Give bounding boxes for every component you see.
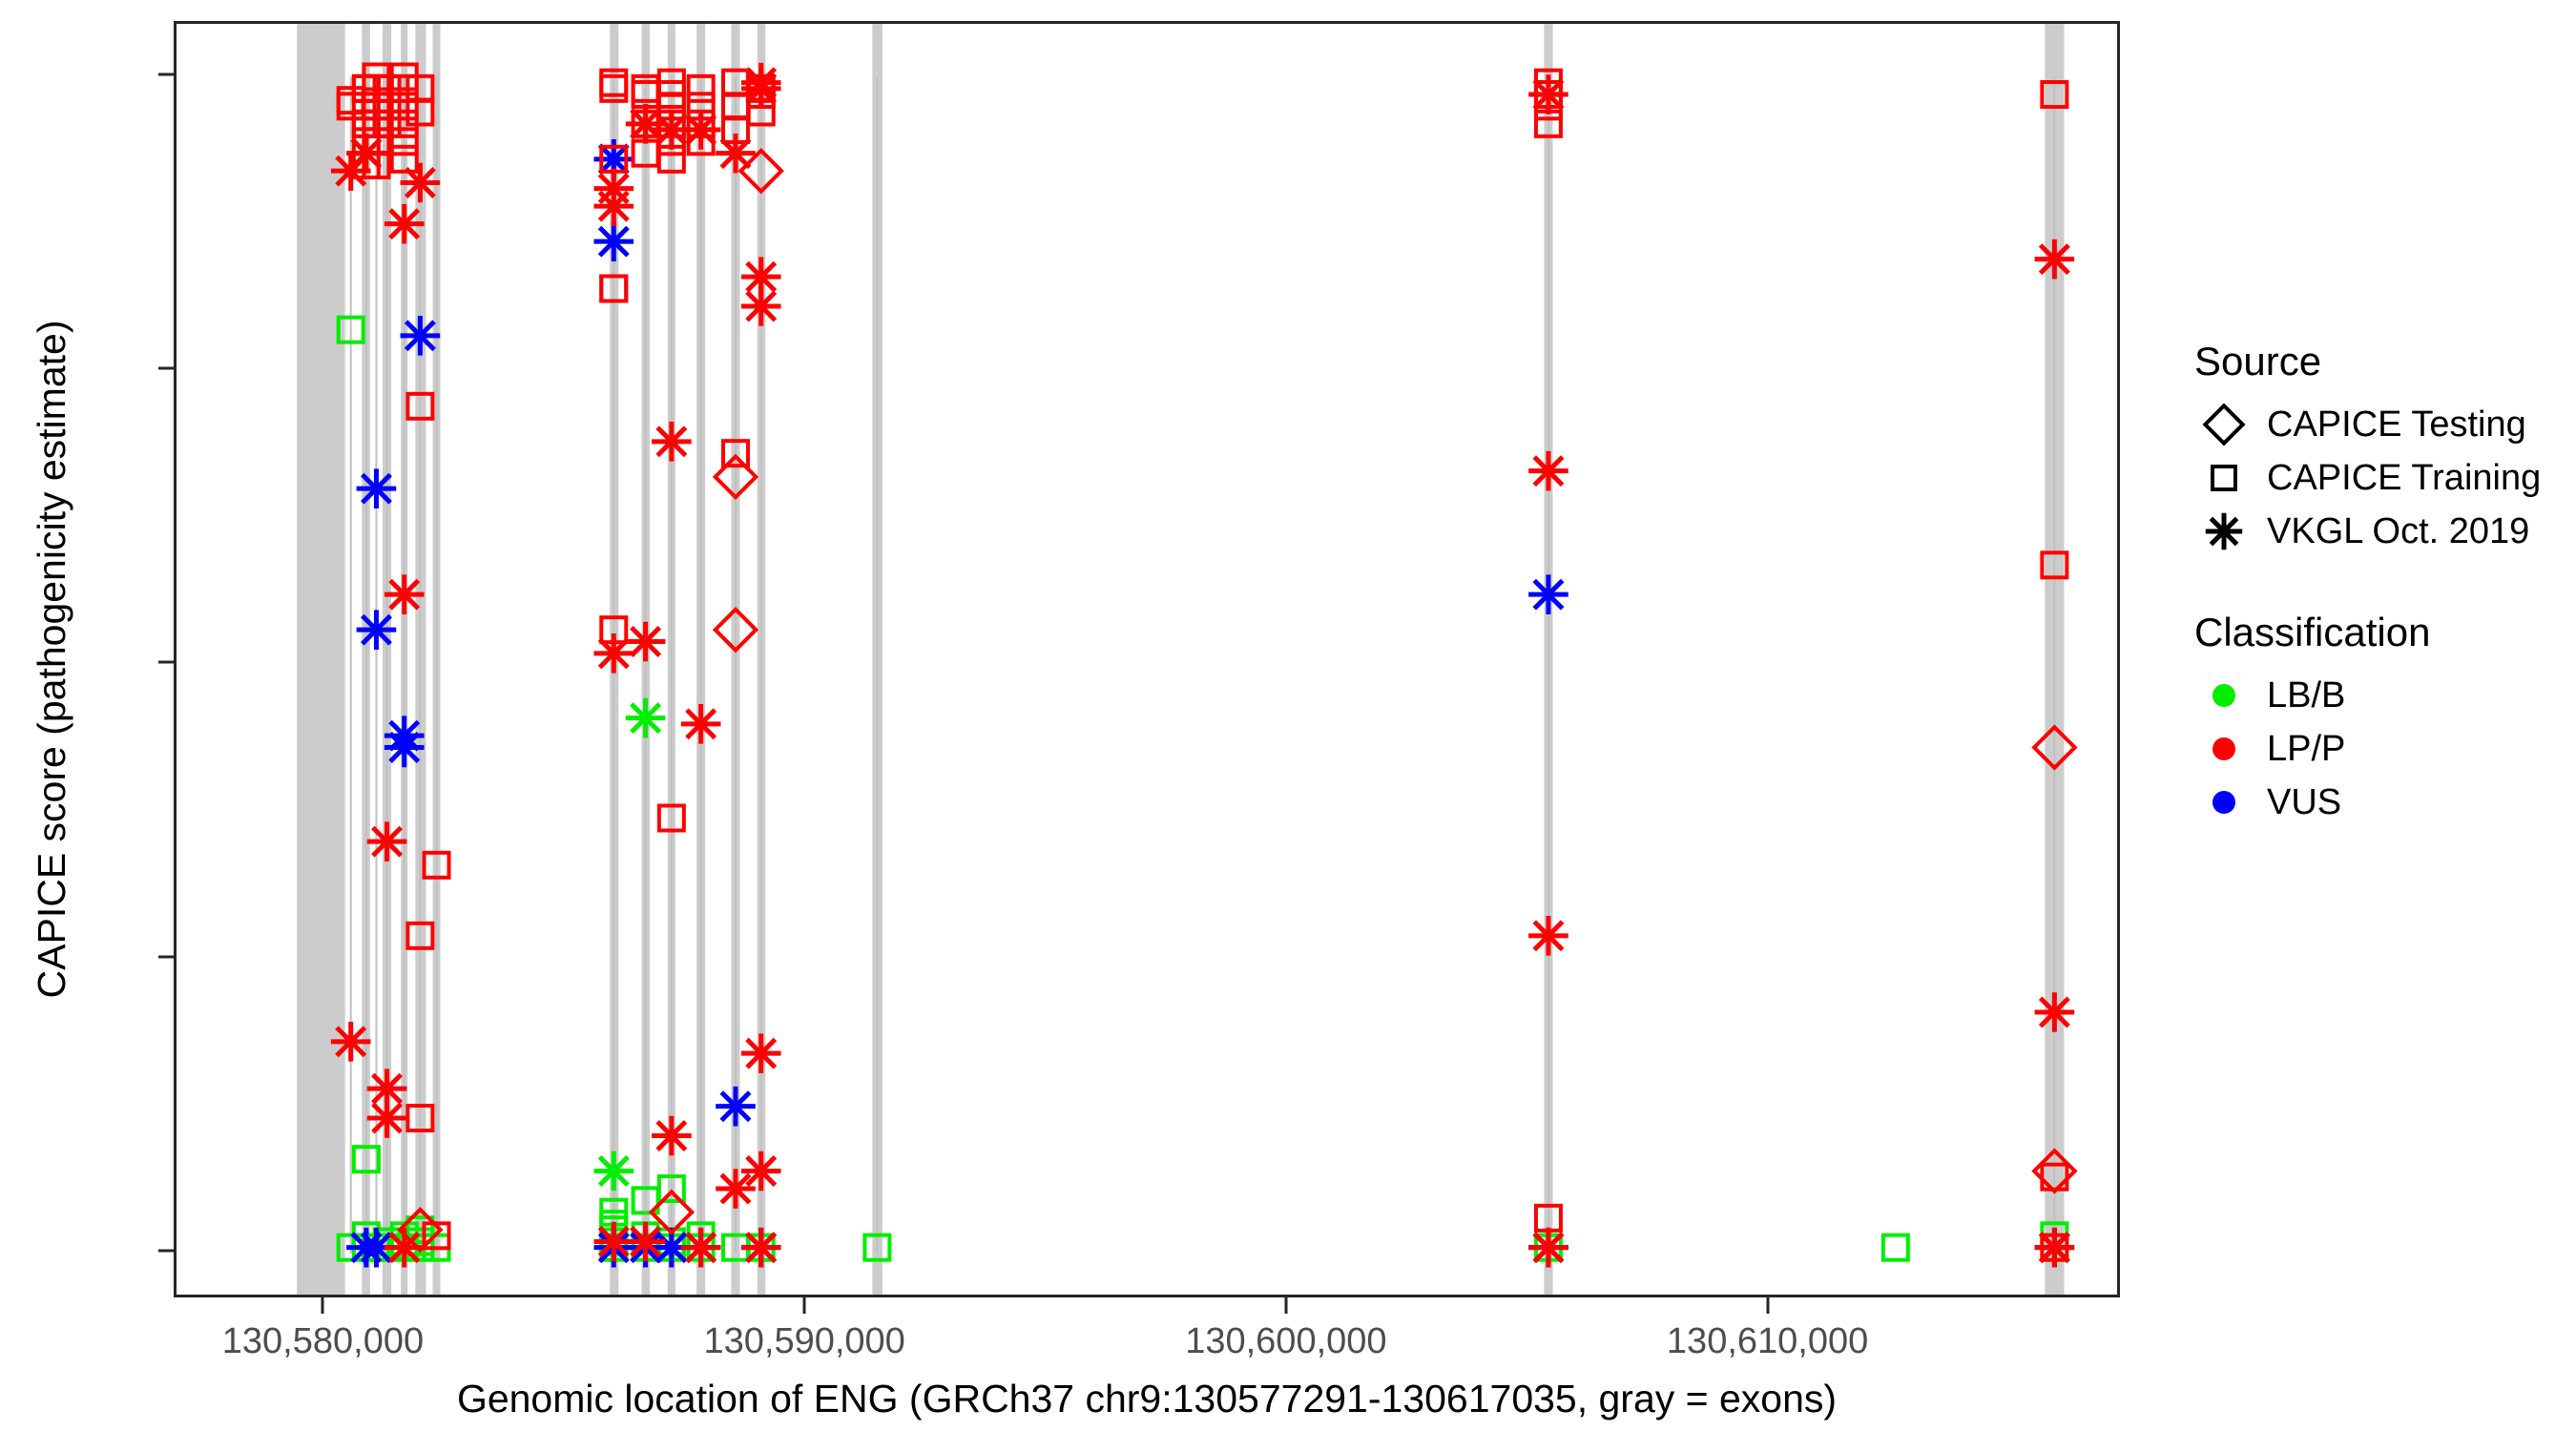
data-point — [681, 704, 721, 744]
circle-icon — [2200, 778, 2248, 826]
data-point — [2035, 1228, 2075, 1268]
diamond-glyph — [2205, 405, 2242, 443]
legend-item-classification-1[interactable]: LP/P — [2194, 722, 2566, 776]
legend-label-classification: VUS — [2254, 782, 2341, 823]
legend-items-classification: LB/BLP/PVUS — [2194, 669, 2566, 829]
legend-group-source: Source CAPICE TestingCAPICE TrainingVKGL… — [2194, 339, 2566, 558]
capice-scatter-figure: CAPICE score (pathogenicity estimate) 0.… — [0, 0, 2576, 1431]
x-tick-label: 130,610,000 — [1606, 1321, 1930, 1362]
data-point — [384, 204, 425, 244]
data-point — [367, 821, 407, 861]
legend-item-source-2[interactable]: VKGL Oct. 2019 — [2194, 505, 2566, 558]
legend-key-dot — [2194, 669, 2254, 722]
y-tick-mark — [158, 1249, 174, 1252]
data-point — [741, 1151, 781, 1192]
x-tick-label: 130,590,000 — [642, 1321, 966, 1362]
data-point — [331, 1022, 371, 1062]
data-point — [367, 1098, 407, 1138]
plot-panel — [174, 21, 2120, 1297]
legend-group-classification: Classification LB/BLP/PVUS — [2194, 610, 2566, 829]
y-tick-mark — [158, 955, 174, 958]
legend-title-source: Source — [2194, 339, 2566, 384]
series-asterisk — [593, 698, 2074, 1268]
series-square — [339, 318, 2067, 1260]
legend-label-classification: LP/P — [2254, 729, 2345, 770]
data-point — [741, 286, 781, 326]
data-point — [357, 610, 397, 650]
asterisk-glyph — [2206, 513, 2242, 550]
dropline-segments — [351, 77, 2055, 1254]
data-point — [1883, 1235, 1908, 1260]
data-point — [716, 134, 756, 174]
data-point — [741, 69, 781, 109]
data-point — [2035, 239, 2075, 280]
legend-key-diamond — [2194, 398, 2254, 451]
data-points — [331, 63, 2075, 1268]
legend-item-source-0[interactable]: CAPICE Testing — [2194, 398, 2566, 451]
data-point — [1528, 916, 1568, 956]
exon-band — [297, 24, 344, 1295]
data-point — [401, 316, 441, 356]
legend-item-source-1[interactable]: CAPICE Training — [2194, 451, 2566, 505]
circle-glyph — [2212, 684, 2235, 707]
data-point — [384, 574, 425, 614]
y-tick-mark — [158, 661, 174, 664]
data-point — [593, 186, 634, 226]
data-point — [741, 1228, 781, 1268]
circle-glyph — [2212, 737, 2235, 760]
series-asterisk — [346, 139, 2074, 1267]
series-asterisk — [331, 63, 2074, 1268]
legend-label-source: CAPICE Testing — [2254, 404, 2526, 446]
legend-key-dot — [2194, 776, 2254, 829]
asterisk-icon — [2200, 508, 2248, 555]
data-point — [626, 622, 666, 662]
data-point — [593, 1151, 634, 1192]
series-diamond — [400, 151, 2075, 1251]
data-point — [741, 1033, 781, 1073]
data-point — [1528, 574, 1568, 614]
x-tick-label: 130,600,000 — [1124, 1321, 1448, 1362]
legend-items-source: CAPICE TestingCAPICE TrainingVKGL Oct. 2… — [2194, 398, 2566, 558]
x-tick-mark — [803, 1297, 806, 1314]
data-point — [1528, 74, 1568, 114]
legend: Source CAPICE TestingCAPICE TrainingVKGL… — [2194, 339, 2566, 881]
data-point — [357, 468, 397, 508]
legend-key-square — [2194, 451, 2254, 505]
data-point — [593, 221, 634, 261]
data-point — [401, 163, 441, 203]
legend-key-asterisk — [2194, 505, 2254, 558]
legend-key-dot — [2194, 722, 2254, 776]
square-icon — [2200, 454, 2248, 502]
legend-item-classification-2[interactable]: VUS — [2194, 776, 2566, 829]
data-point — [652, 422, 692, 462]
diamond-icon — [2200, 401, 2248, 448]
exon-bands — [297, 24, 2064, 1295]
y-tick-mark — [158, 366, 174, 369]
x-tick-mark — [1766, 1297, 1769, 1314]
data-point — [652, 1116, 692, 1156]
data-point — [1528, 451, 1568, 491]
circle-icon — [2200, 725, 2248, 773]
legend-label-classification: LB/B — [2254, 675, 2345, 716]
x-tick-mark — [1284, 1297, 1287, 1314]
square-glyph — [2212, 467, 2235, 489]
data-point — [346, 134, 386, 174]
data-point — [626, 104, 666, 144]
plot-canvas — [177, 24, 2117, 1295]
data-point — [681, 1228, 721, 1268]
legend-label-source: VKGL Oct. 2019 — [2254, 511, 2529, 552]
data-point — [716, 1169, 756, 1209]
data-point — [626, 698, 666, 738]
y-tick-mark — [158, 73, 174, 75]
y-axis-title: CAPICE score (pathogenicity estimate) — [25, 21, 78, 1297]
x-axis-title: Genomic location of ENG (GRCh37 chr9:130… — [174, 1377, 2120, 1421]
data-point — [2035, 992, 2075, 1032]
circle-glyph — [2212, 791, 2235, 814]
data-point — [681, 110, 721, 150]
legend-title-classification: Classification — [2194, 610, 2566, 655]
circle-icon — [2200, 672, 2248, 719]
data-point — [626, 1222, 666, 1262]
legend-item-classification-0[interactable]: LB/B — [2194, 669, 2566, 722]
data-point — [1528, 1228, 1568, 1268]
x-tick-label: 130,580,000 — [160, 1321, 485, 1362]
legend-label-source: CAPICE Training — [2254, 458, 2541, 499]
x-tick-mark — [322, 1297, 324, 1314]
data-point — [716, 1087, 756, 1127]
data-point — [384, 728, 425, 768]
